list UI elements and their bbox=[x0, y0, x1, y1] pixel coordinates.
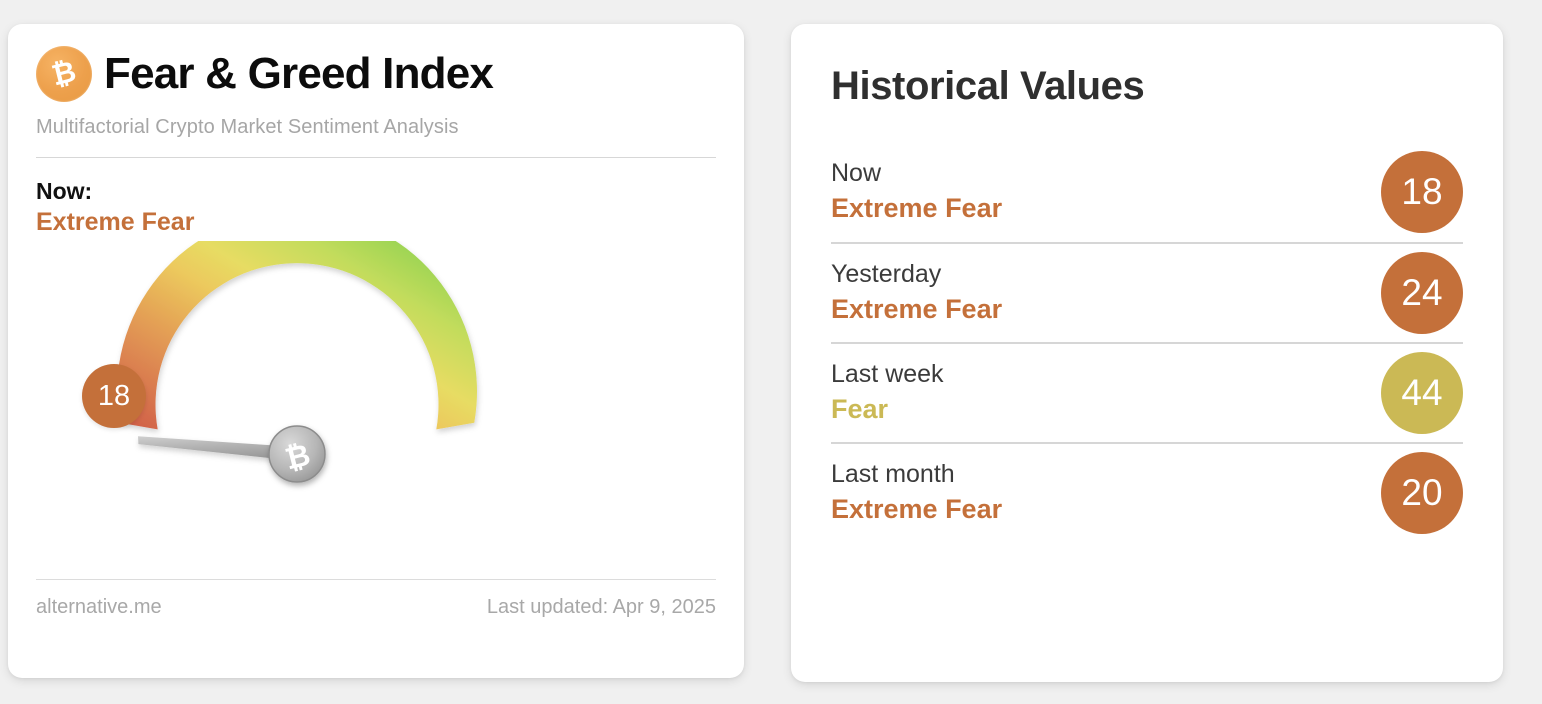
gauge-card-subtitle: Multifactorial Crypto Market Sentiment A… bbox=[36, 116, 716, 139]
historical-classification-label: Extreme Fear bbox=[831, 493, 1002, 527]
historical-classification-label: Fear bbox=[831, 393, 944, 427]
page-title: Fear & Greed Index bbox=[104, 52, 493, 96]
gauge-value-badge: 18 bbox=[82, 364, 146, 428]
historical-row: Last monthExtreme Fear20 bbox=[831, 442, 1463, 542]
gauge-card-header: ₿ Fear & Greed Index bbox=[36, 24, 716, 102]
historical-value-badge: 18 bbox=[1381, 151, 1463, 233]
historical-value-badge: 24 bbox=[1381, 252, 1463, 334]
historical-classification-label: Extreme Fear bbox=[831, 192, 1002, 226]
historical-row-text: Last weekFear bbox=[831, 359, 944, 427]
bitcoin-icon: ₿ bbox=[36, 46, 92, 102]
footer-divider bbox=[36, 579, 716, 580]
historical-period-label: Yesterday bbox=[831, 259, 1002, 290]
header-divider bbox=[36, 157, 716, 158]
historical-row: NowExtreme Fear18 bbox=[831, 142, 1463, 242]
gauge-needle-hub: ₿ bbox=[269, 426, 325, 482]
historical-period-label: Now bbox=[831, 158, 1002, 189]
historical-row: Last weekFear44 bbox=[831, 342, 1463, 442]
historical-period-label: Last month bbox=[831, 459, 1002, 490]
gauge-card-footer: alternative.me Last updated: Apr 9, 2025 bbox=[36, 596, 716, 619]
historical-classification-label: Extreme Fear bbox=[831, 293, 1002, 327]
now-classification: Extreme Fear bbox=[36, 208, 716, 237]
svg-text:₿: ₿ bbox=[49, 56, 80, 92]
historical-values-card: Historical Values NowExtreme Fear18Yeste… bbox=[791, 24, 1503, 682]
gauge-arc bbox=[117, 241, 477, 429]
last-updated-text: Last updated: Apr 9, 2025 bbox=[487, 596, 716, 619]
historical-values-list: NowExtreme Fear18YesterdayExtreme Fear24… bbox=[831, 142, 1463, 542]
historical-values-title: Historical Values bbox=[831, 24, 1463, 106]
historical-row: YesterdayExtreme Fear24 bbox=[831, 242, 1463, 342]
historical-row-text: NowExtreme Fear bbox=[831, 158, 1002, 226]
source-link[interactable]: alternative.me bbox=[36, 596, 162, 619]
gauge-chart: ₿ 18 bbox=[22, 241, 702, 571]
historical-row-text: Last monthExtreme Fear bbox=[831, 459, 1002, 527]
fear-greed-gauge-card: ₿ Fear & Greed Index Multifactorial Cryp… bbox=[8, 24, 744, 678]
now-label: Now: bbox=[36, 178, 716, 204]
historical-value-badge: 20 bbox=[1381, 452, 1463, 534]
historical-value-badge: 44 bbox=[1381, 352, 1463, 434]
page-root: ₿ Fear & Greed Index Multifactorial Cryp… bbox=[0, 0, 1542, 704]
historical-row-text: YesterdayExtreme Fear bbox=[831, 259, 1002, 327]
historical-period-label: Last week bbox=[831, 359, 944, 390]
